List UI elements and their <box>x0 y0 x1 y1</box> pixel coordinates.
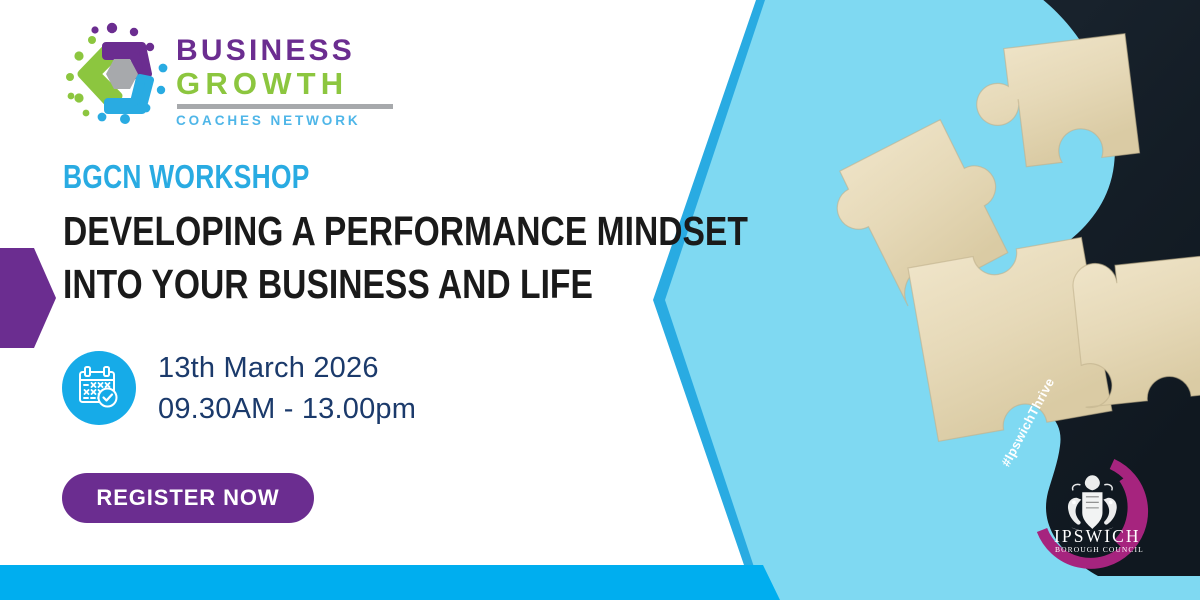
purple-hexagon-accent <box>0 248 56 348</box>
logo-coaches-network-text: COACHES NETWORK <box>176 113 412 128</box>
event-date: 13th March 2026 <box>158 348 416 389</box>
event-time: 09.30AM - 13.00pm <box>158 389 416 430</box>
logo-wordmark: BUSINESS GROWTH COACHES NETWORK <box>176 36 412 128</box>
ipswich-crest-icon <box>1068 475 1117 531</box>
bgcn-logo[interactable]: BUSINESS GROWTH COACHES NETWORK <box>62 18 362 136</box>
headline-line-2: INTO YOUR BUSINESS AND LIFE <box>63 258 748 311</box>
logo-divider-rule <box>177 104 393 109</box>
hexagon-chevrons-icon <box>62 18 180 136</box>
headline-line-1: DEVELOPING A PERFORMANCE MINDSET <box>63 205 748 258</box>
eyebrow-label: BGCN WORKSHOP <box>63 158 310 196</box>
ipswich-borough-council-logo: #IpswichThrive IPSWICH BOROUGH COUNCIL <box>1000 448 1155 578</box>
calendar-check-icon <box>62 351 136 425</box>
ipswich-arc-icon <box>1000 448 1155 578</box>
event-banner: BUSINESS GROWTH COACHES NETWORK BGCN WOR… <box>0 0 1200 600</box>
date-time-text: 13th March 2026 09.30AM - 13.00pm <box>158 348 416 430</box>
register-now-button[interactable]: REGISTER NOW <box>62 473 314 523</box>
page-title: DEVELOPING A PERFORMANCE MINDSET INTO YO… <box>63 205 748 312</box>
bottom-accent-bar <box>0 565 700 600</box>
logo-growth-text: GROWTH <box>176 68 412 100</box>
ipswich-subtitle: BOROUGH COUNCIL <box>1055 545 1144 554</box>
ipswich-name: IPSWICH <box>1054 526 1141 547</box>
logo-business-text: BUSINESS <box>176 36 412 67</box>
